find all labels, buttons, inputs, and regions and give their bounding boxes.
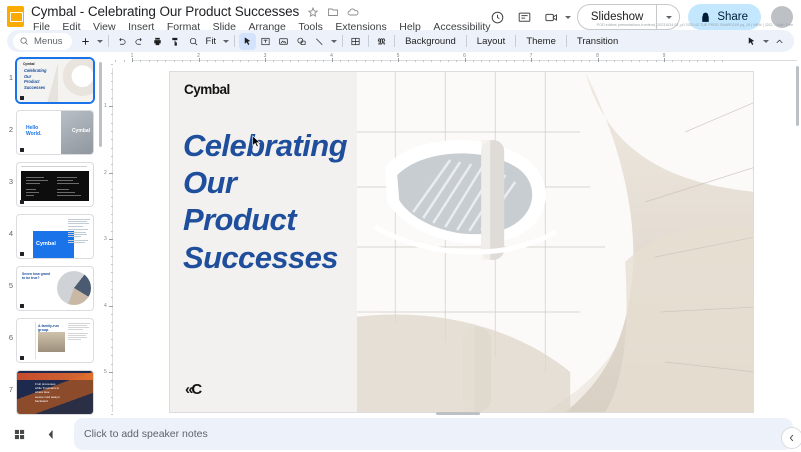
slide-thumbnail-7[interactable]: Fruit processes while Tropicana to where…: [17, 371, 93, 414]
ruler-track-vertical: [112, 68, 113, 412]
slide-thumbnail-6[interactable]: A family-run group.: [17, 319, 93, 362]
move-to-folder-icon[interactable]: [326, 5, 339, 18]
theme-button[interactable]: Theme: [520, 33, 562, 50]
thumbnail-image: [38, 332, 65, 352]
version-history-icon[interactable]: [485, 5, 510, 30]
ruler-tick-minor: [440, 60, 441, 63]
ruler-tick-minor: [111, 189, 114, 190]
thumbnail-photo-word: Cymbal: [72, 128, 90, 134]
thumbnail-accent-band: [17, 373, 93, 380]
toolbar-divider-2: [234, 35, 235, 47]
toolbar-divider-1: [108, 35, 109, 47]
slide-logo-mark: «C: [185, 381, 200, 398]
comment-icon[interactable]: [512, 5, 537, 30]
ruler-tick-minor: [111, 264, 114, 265]
svg-text:𝔐: 𝔐: [377, 37, 386, 46]
slide-thumbnail-2[interactable]: Hello World. Cymbal: [17, 111, 93, 154]
canvas-scrollbar[interactable]: [796, 66, 799, 126]
ruler-tick-minor: [456, 60, 457, 63]
ruler-tick-minor: [111, 347, 114, 348]
slide-title-text[interactable]: Celebrating Our Product Successes: [183, 127, 347, 276]
ruler-tick-minor: [373, 60, 374, 63]
ruler-tick-minor: [240, 60, 241, 63]
ruler-tick-minor: [182, 60, 183, 63]
redo-icon[interactable]: [131, 33, 148, 50]
ruler-tick-minor: [672, 60, 673, 63]
ruler-tick-minor: [290, 60, 291, 63]
menu-edit[interactable]: Edit: [61, 21, 81, 33]
text-format-icon[interactable]: 𝔐: [373, 33, 390, 50]
ruler-tick-minor: [614, 60, 615, 63]
ruler-label: 5: [397, 53, 400, 59]
ruler-tick-minor: [111, 164, 114, 165]
ruler-tick-minor: [581, 60, 582, 63]
ruler-tick-minor: [215, 60, 216, 63]
thumbnail-logo-mark: [20, 252, 24, 256]
ruler-tick-minor: [448, 60, 449, 63]
lock-icon: [699, 11, 712, 24]
ruler-tick-minor: [111, 339, 114, 340]
page-title[interactable]: Cymbal - Celebrating Our Product Success…: [31, 4, 299, 19]
ruler-tick-minor: [356, 60, 357, 63]
thumbnail-logo-mark: [20, 96, 24, 100]
thumbnail-text-lines: [68, 219, 90, 244]
title-block: Cymbal - Celebrating Our Product Success…: [31, 3, 485, 33]
build-info-text: POD editors presentations-frontend_20231…: [597, 23, 793, 27]
print-icon[interactable]: [149, 33, 166, 50]
ruler-tick-minor: [111, 114, 114, 115]
layout-button[interactable]: Layout: [471, 33, 512, 50]
ruler-tick-minor: [514, 60, 515, 63]
ruler-tick: [109, 306, 113, 307]
toolbar-divider-4: [368, 35, 369, 47]
toolbar-divider-6: [466, 35, 467, 47]
ruler-tick-minor: [689, 60, 690, 63]
ruler-tick-minor: [111, 272, 114, 273]
speaker-notes-placeholder: Click to add speaker notes: [84, 428, 208, 440]
ruler-tick-minor: [706, 60, 707, 63]
menus-search-button[interactable]: Menus: [13, 33, 72, 50]
ruler-tick-minor: [589, 60, 590, 63]
ruler-tick-minor: [111, 64, 114, 65]
ruler-label: 6: [463, 53, 466, 59]
menu-insert[interactable]: Insert: [127, 21, 155, 33]
ruler-tick-minor: [111, 397, 114, 398]
ruler-tick-minor: [111, 364, 114, 365]
vertical-ruler[interactable]: 12345: [104, 64, 115, 416]
ruler-tick-minor: [564, 60, 565, 63]
toolbar-divider-3: [342, 35, 343, 47]
ruler-tick-minor: [111, 98, 114, 99]
ruler-tick-minor: [489, 60, 490, 63]
ruler-tick-minor: [473, 60, 474, 63]
ruler-tick-minor: [548, 60, 549, 63]
thumbnail-number: 3: [2, 163, 13, 186]
ruler-label: 7: [530, 53, 533, 59]
list-item[interactable]: 6 A family-run group.: [0, 319, 104, 362]
ruler-tick-minor: [656, 60, 657, 63]
ruler-tick-minor: [165, 60, 166, 63]
ruler-tick-minor: [111, 380, 114, 381]
ruler-tick-minor: [431, 60, 432, 63]
ruler-tick-minor: [124, 60, 125, 63]
ruler-tick-minor: [111, 197, 114, 198]
list-item[interactable]: 7 Fruit processes while Tropicana to whe…: [0, 371, 104, 414]
menu-file[interactable]: File: [32, 21, 51, 33]
present-camera-icon[interactable]: [539, 5, 564, 30]
toolbar-divider-5: [394, 35, 395, 47]
ruler-tick: [109, 239, 113, 240]
ruler-tick-minor: [573, 60, 574, 63]
ruler-tick-minor: [111, 297, 114, 298]
ruler-tick-minor: [149, 60, 150, 63]
ruler-tick-minor: [257, 60, 258, 63]
ruler-tick-minor: [714, 60, 715, 63]
list-item[interactable]: 1 Cymbal Celebrating Our Product Success…: [0, 59, 104, 102]
ruler-label: 3: [104, 236, 107, 242]
slide-background-image: [357, 72, 753, 412]
ruler-tick-minor: [539, 60, 540, 63]
ruler-tick-minor: [207, 60, 208, 63]
ruler-tick-minor: [111, 148, 114, 149]
star-icon[interactable]: [306, 5, 319, 18]
present-camera-group[interactable]: [539, 5, 571, 30]
thumbnail-header-rule: [21, 166, 87, 167]
undo-icon[interactable]: [113, 33, 130, 50]
slide-canvas-area[interactable]: Cymbal Celebrating Our Product Successes…: [115, 64, 801, 416]
ruler-tick-minor: [523, 60, 524, 63]
ruler-tick-minor: [307, 60, 308, 63]
filmstrip-scrollbar[interactable]: [99, 62, 102, 147]
ruler-label: 4: [104, 303, 107, 309]
thumbnail-logo-mark: [20, 304, 24, 308]
ruler-tick-minor: [681, 60, 682, 63]
thumbnail-number: 1: [2, 59, 13, 82]
ruler-tick-minor: [111, 289, 114, 290]
ruler-label: 1: [104, 103, 107, 109]
slides-doc-icon: [7, 6, 24, 27]
slide-filmstrip[interactable]: 1 Cymbal Celebrating Our Product Success…: [0, 53, 104, 416]
ruler-tick-minor: [111, 131, 114, 132]
thumbnail-number: 2: [2, 111, 13, 134]
thumbnail-heading: Hello World.: [26, 125, 41, 137]
ruler-tick-minor: [111, 89, 114, 90]
thumbnail-logo-mark: [20, 356, 24, 360]
slide-thumbnail-3[interactable]: [17, 163, 93, 206]
menu-view[interactable]: View: [92, 21, 117, 33]
ruler-label: 5: [104, 369, 107, 375]
camera-caret-icon[interactable]: [565, 16, 571, 19]
ruler-tick-minor: [406, 60, 407, 63]
toolbar-divider-8: [566, 35, 567, 47]
ruler-tick-minor: [348, 60, 349, 63]
list-item[interactable]: 3: [0, 163, 104, 206]
zoom-level-label[interactable]: Fit: [203, 36, 221, 47]
thumbnail-number: 7: [2, 371, 13, 394]
ruler-tick-minor: [697, 60, 698, 63]
ruler-tick-minor: [315, 60, 316, 63]
select-tool-icon[interactable]: [239, 33, 256, 50]
ruler-tick-minor: [157, 60, 158, 63]
ruler-tick-minor: [111, 355, 114, 356]
thumbnail-logo-mark: [20, 148, 24, 152]
ruler-tick-minor: [111, 322, 114, 323]
ruler-label: 1: [131, 53, 134, 59]
background-button[interactable]: Background: [399, 33, 462, 50]
table-icon[interactable]: [347, 33, 364, 50]
line-caret-icon[interactable]: [329, 33, 338, 50]
thumbnail-heading: Seven how grand to be true?: [22, 272, 50, 281]
ruler-label: 4: [330, 53, 333, 59]
ruler-label: 9: [663, 53, 666, 59]
ruler-label: 2: [104, 170, 107, 176]
ruler-tick-minor: [190, 60, 191, 63]
menu-extensions[interactable]: Extensions: [334, 21, 387, 33]
text-box-icon[interactable]: [257, 33, 274, 50]
ruler-tick-minor: [340, 60, 341, 63]
thumbnail-heading: A family-run group.: [38, 324, 59, 332]
main-toolbar: Menus Fit: [7, 30, 794, 52]
ruler-tick-minor: [647, 60, 648, 63]
menu-help[interactable]: Help: [398, 21, 422, 33]
ruler-tick-minor: [423, 60, 424, 63]
menu-arrange[interactable]: Arrange: [247, 21, 286, 33]
ruler-tick-minor: [111, 206, 114, 207]
speaker-notes-field[interactable]: Click to add speaker notes: [74, 418, 793, 450]
edit-mode-icon[interactable]: [743, 33, 760, 50]
thumbnail-brand: Cymbal: [23, 62, 35, 66]
ruler-tick-minor: [111, 231, 114, 232]
horizontal-ruler[interactable]: 123456789: [110, 53, 801, 64]
insert-image-icon[interactable]: [275, 33, 292, 50]
ruler-tick-minor: [111, 156, 114, 157]
ruler-tick-minor: [115, 60, 116, 63]
ruler-tick-minor: [631, 60, 632, 63]
ruler-tick-minor: [111, 73, 114, 74]
ruler-tick-minor: [232, 60, 233, 63]
new-slide-icon[interactable]: [77, 33, 94, 50]
ruler-tick: [109, 106, 113, 107]
menu-format[interactable]: Format: [166, 21, 201, 33]
ruler-tick-minor: [606, 60, 607, 63]
bottom-bar: Click to add speaker notes: [0, 416, 801, 452]
collapse-toolbar-icon[interactable]: [771, 33, 788, 50]
shape-icon[interactable]: [293, 33, 310, 50]
ruler-tick-minor: [248, 60, 249, 63]
ruler-tick-minor: [556, 60, 557, 63]
ruler-tick-minor: [111, 139, 114, 140]
ruler-tick-minor: [111, 281, 114, 282]
ruler-tick-minor: [111, 314, 114, 315]
ruler-tick-minor: [639, 60, 640, 63]
ruler-tick-minor: [390, 60, 391, 63]
menu-bar: File Edit View Insert Format Slide Arran…: [31, 21, 485, 33]
active-slide[interactable]: Cymbal Celebrating Our Product Successes…: [170, 72, 753, 412]
slide-thumbnail-5[interactable]: Seven how grand to be true?: [17, 267, 93, 310]
toolbar-right-group: [743, 33, 788, 50]
ruler-tick-minor: [111, 256, 114, 257]
line-icon[interactable]: [311, 33, 328, 50]
collapse-filmstrip-icon[interactable]: [38, 421, 64, 447]
ruler-tick-minor: [111, 414, 114, 415]
thumbnail-text-lines: [68, 323, 90, 341]
zoom-icon[interactable]: [185, 33, 202, 50]
menu-tools[interactable]: Tools: [297, 21, 324, 33]
ruler-tick-minor: [722, 60, 723, 63]
ruler-tick-minor: [174, 60, 175, 63]
transition-button[interactable]: Transition: [571, 33, 624, 50]
thumbnail-title: Celebrating Our Product Successes: [24, 68, 47, 91]
share-label: Share: [717, 11, 748, 23]
ruler-label: 8: [596, 53, 599, 59]
ruler-tick-minor: [298, 60, 299, 63]
ruler-tick-minor: [498, 60, 499, 63]
cloud-saved-icon[interactable]: [346, 5, 359, 18]
ruler-tick: [109, 173, 113, 174]
thumbnail-dark-block: [21, 171, 89, 201]
ruler-tick-minor: [273, 60, 274, 63]
thumbnail-image: [57, 271, 91, 305]
search-icon: [19, 36, 29, 46]
list-item[interactable]: 2 Hello World. Cymbal: [0, 111, 104, 154]
list-item[interactable]: 4 Cymbal: [0, 215, 104, 258]
app-header: Cymbal - Celebrating Our Product Success…: [0, 0, 801, 30]
thumbnail-brand: Cymbal: [36, 241, 56, 247]
thumbnail-caption: Fruit processes while Tropicana to where…: [35, 382, 87, 403]
slide-thumbnail-1[interactable]: Cymbal Celebrating Our Product Successes: [17, 59, 93, 102]
ruler-tick-minor: [111, 389, 114, 390]
thumbnail-number: 6: [2, 319, 13, 342]
ruler-tick-minor: [622, 60, 623, 63]
ruler-tick-minor: [111, 123, 114, 124]
collapse-panel-icon[interactable]: [782, 428, 801, 448]
edit-mode-caret-icon[interactable]: [761, 33, 770, 50]
notes-drag-handle[interactable]: [436, 412, 480, 415]
thumbnail-left-column: [20, 322, 36, 359]
ruler-tick-minor: [111, 330, 114, 331]
slide-brand-logo: Cymbal: [184, 82, 230, 97]
ruler-tick-minor: [506, 60, 507, 63]
thumbnail-number: 5: [2, 267, 13, 290]
new-slide-caret-icon[interactable]: [95, 33, 104, 50]
ruler-tick-minor: [323, 60, 324, 63]
toolbar-divider-7: [515, 35, 516, 47]
ruler-label: 3: [264, 53, 267, 59]
ruler-tick-minor: [111, 247, 114, 248]
thumbnail-image: [58, 59, 93, 102]
ruler-tick-minor: [365, 60, 366, 63]
ruler-tick: [109, 372, 113, 373]
ruler-tick-minor: [481, 60, 482, 63]
slides-app-window: Cymbal - Celebrating Our Product Success…: [0, 0, 801, 452]
ruler-tick-minor: [111, 405, 114, 406]
thumbnail-number: 4: [2, 215, 13, 238]
menu-slide[interactable]: Slide: [212, 21, 237, 33]
thumbnail-logo-mark: [20, 200, 24, 204]
list-item[interactable]: 5 Seven how grand to be true?: [0, 267, 104, 310]
ruler-tick-minor: [111, 222, 114, 223]
ruler-tick-minor: [111, 214, 114, 215]
ruler-tick-minor: [381, 60, 382, 63]
ruler-tick-minor: [282, 60, 283, 63]
ruler-tick-minor: [140, 60, 141, 63]
grid-view-icon[interactable]: [6, 421, 32, 447]
title-row: Cymbal - Celebrating Our Product Success…: [31, 3, 485, 20]
menus-label: Menus: [34, 36, 63, 47]
ruler-tick-minor: [223, 60, 224, 63]
ruler-tick-minor: [415, 60, 416, 63]
ruler-label: 2: [197, 53, 200, 59]
ruler-tick-minor: [111, 81, 114, 82]
zoom-caret-icon[interactable]: [221, 33, 230, 50]
paint-format-icon[interactable]: [167, 33, 184, 50]
menu-accessibility[interactable]: Accessibility: [432, 21, 491, 33]
slide-thumbnail-4[interactable]: Cymbal: [17, 215, 93, 258]
ruler-tick-minor: [111, 181, 114, 182]
